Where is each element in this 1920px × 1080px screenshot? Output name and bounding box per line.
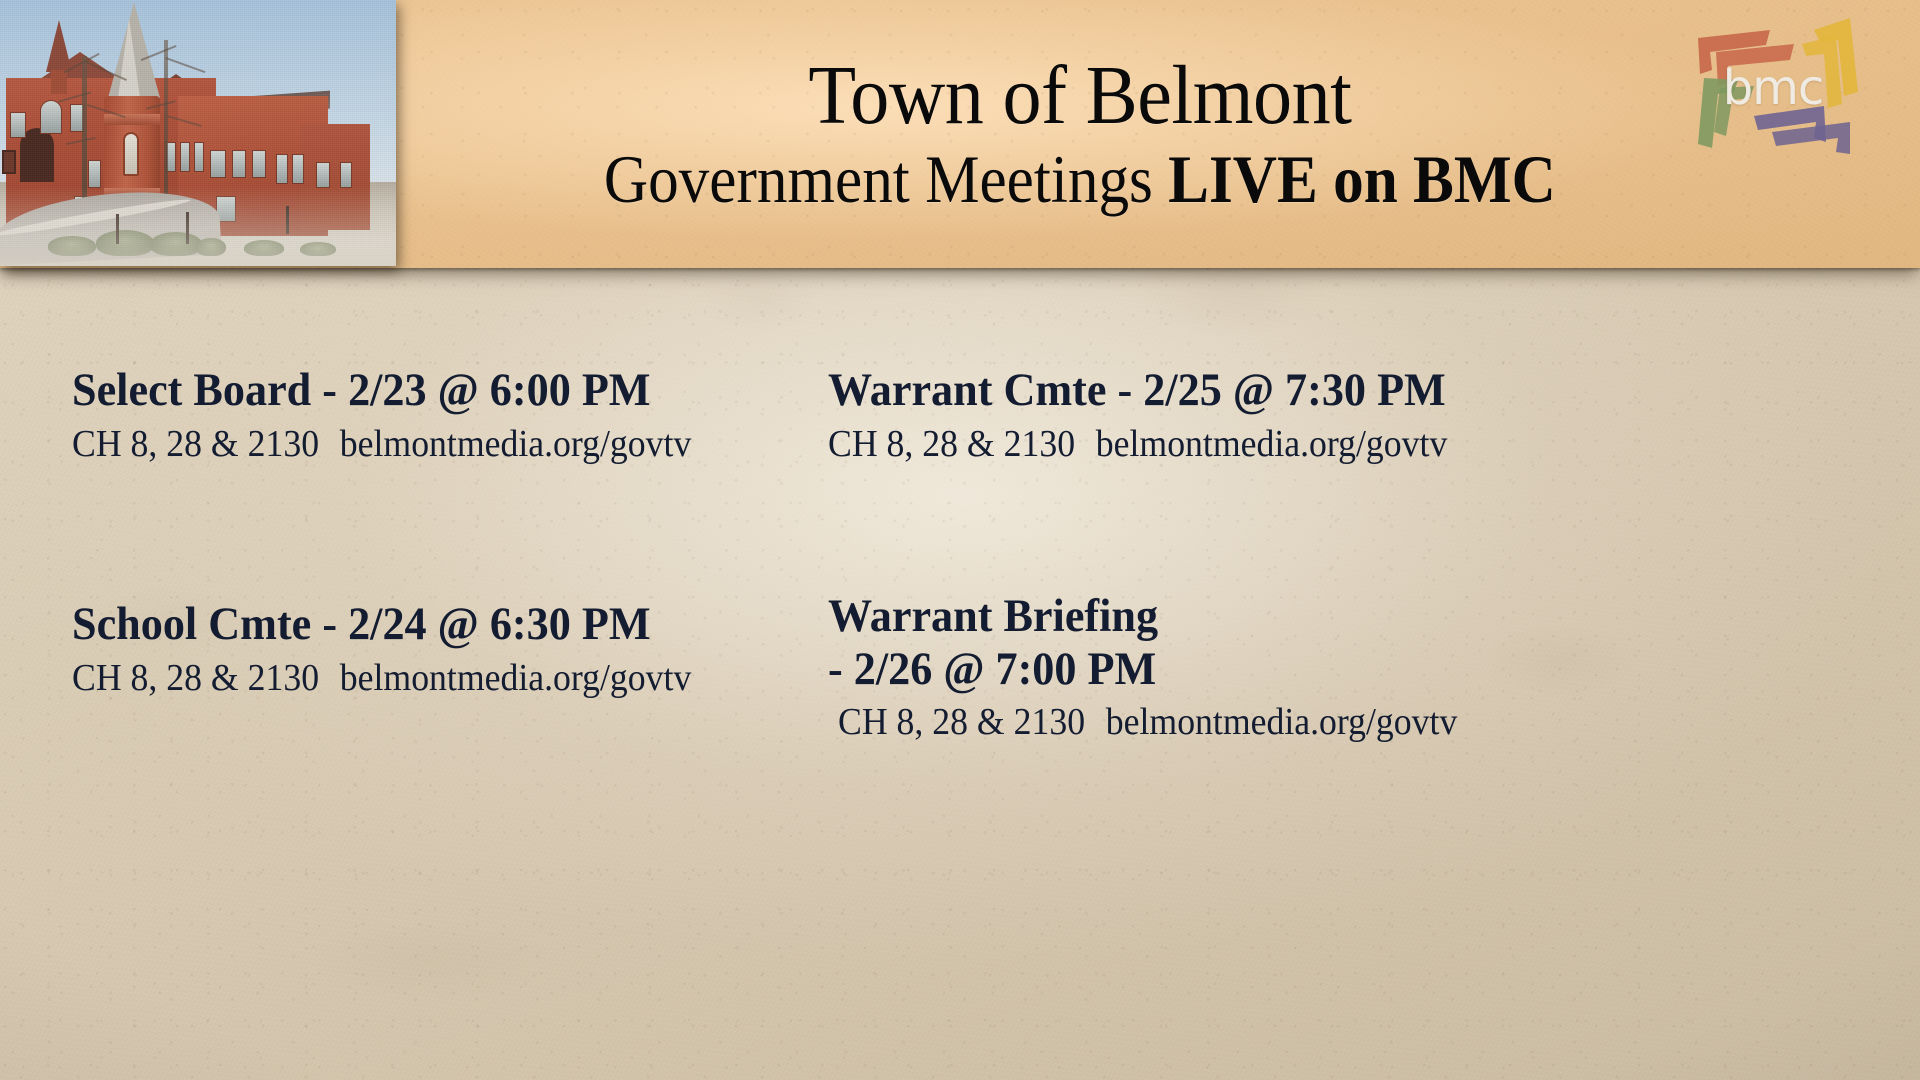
meeting-datetime: - bbox=[311, 364, 348, 416]
bmc-wordmark: bmc bbox=[1708, 60, 1838, 116]
photo-window bbox=[40, 100, 62, 134]
meeting-title: Warrant Cmte - 2/25 @ 7:30 PM bbox=[828, 364, 1447, 417]
meeting-details: CH 8, 28 & 2130belmontmedia.org/govtv bbox=[838, 699, 1457, 745]
meeting-datetime: - bbox=[1107, 364, 1144, 416]
meeting-title: Select Board - 2/23 @ 6:00 PM bbox=[72, 364, 691, 417]
photo-shrub bbox=[48, 236, 96, 256]
meeting-name: School Cmte bbox=[72, 598, 311, 650]
photo-shrub bbox=[96, 230, 154, 256]
photo-window bbox=[232, 150, 246, 178]
meeting-datetime-value: 2/24 @ 6:30 PM bbox=[348, 598, 650, 650]
photo-window bbox=[210, 150, 226, 178]
photo-turret-cone-highlight bbox=[118, 18, 140, 98]
photo-shrub bbox=[244, 240, 284, 256]
photo-canvas bbox=[0, 0, 396, 266]
meeting-details: CH 8, 28 & 2130belmontmedia.org/govtv bbox=[72, 421, 691, 467]
meeting-channels: CH 8, 28 & 2130 bbox=[72, 657, 319, 699]
photo-window bbox=[10, 112, 26, 138]
subtitle-regular-part: Government Meetings bbox=[604, 141, 1168, 217]
header-title-block: Town of Belmont Government Meetings LIVE… bbox=[400, 0, 1760, 268]
photo-turret-window bbox=[123, 132, 139, 176]
meeting-name: Warrant Briefing bbox=[828, 590, 1457, 643]
meeting-name: Select Board bbox=[72, 364, 311, 416]
town-hall-photo bbox=[0, 0, 396, 266]
photo-small-spire bbox=[46, 20, 72, 72]
meeting-url[interactable]: belmontmedia.org/govtv bbox=[1106, 701, 1458, 743]
page-title: Town of Belmont bbox=[808, 53, 1351, 139]
photo-window bbox=[180, 142, 190, 172]
photo-small-spire-base bbox=[51, 70, 67, 94]
meeting-channels: CH 8, 28 & 2130 bbox=[72, 423, 319, 465]
subtitle-bold-part: LIVE on BMC bbox=[1168, 141, 1556, 217]
page-subtitle: Government Meetings LIVE on BMC bbox=[604, 145, 1556, 214]
photo-window bbox=[340, 162, 352, 188]
photo-bollard bbox=[116, 214, 119, 244]
meeting-url[interactable]: belmontmedia.org/govtv bbox=[1096, 423, 1448, 465]
photo-shrub bbox=[196, 238, 226, 256]
meeting-channels: CH 8, 28 & 2130 bbox=[828, 423, 1075, 465]
meeting-details: CH 8, 28 & 2130belmontmedia.org/govtv bbox=[828, 421, 1447, 467]
meeting-channels: CH 8, 28 & 2130 bbox=[838, 701, 1085, 743]
photo-sign-board bbox=[2, 150, 16, 174]
meeting-datetime-value: 2/25 @ 7:30 PM bbox=[1143, 364, 1445, 416]
photo-brick-wall-far bbox=[300, 124, 370, 230]
photo-bollard bbox=[186, 212, 189, 244]
meeting-entry-warrant-cmte: Warrant Cmte - 2/25 @ 7:30 PM CH 8, 28 &… bbox=[828, 364, 1487, 467]
meeting-url[interactable]: belmontmedia.org/govtv bbox=[340, 423, 692, 465]
photo-window bbox=[276, 154, 288, 184]
meeting-entry-school-cmte: School Cmte - 2/24 @ 6:30 PM CH 8, 28 & … bbox=[72, 598, 731, 701]
meetings-list: Select Board - 2/23 @ 6:00 PM CH 8, 28 &… bbox=[0, 268, 1920, 1080]
meeting-details: CH 8, 28 & 2130belmontmedia.org/govtv bbox=[72, 655, 691, 701]
meeting-name: Warrant Cmte bbox=[828, 364, 1107, 416]
meeting-datetime-value: - 2/26 @ 7:00 PM bbox=[828, 643, 1457, 696]
photo-turret-band-upper bbox=[104, 114, 160, 125]
photo-bollard bbox=[286, 206, 289, 234]
meeting-url[interactable]: belmontmedia.org/govtv bbox=[340, 657, 692, 699]
meeting-datetime-value: 2/23 @ 6:00 PM bbox=[348, 364, 650, 416]
photo-window bbox=[292, 154, 304, 184]
bmc-logo: bmc bbox=[1672, 12, 1880, 160]
meeting-entry-select-board: Select Board - 2/23 @ 6:00 PM CH 8, 28 &… bbox=[72, 364, 731, 467]
meeting-datetime: - bbox=[311, 598, 348, 650]
photo-shrub bbox=[300, 242, 336, 256]
photo-window bbox=[88, 160, 101, 188]
meeting-entry-warrant-briefing: Warrant Briefing - 2/26 @ 7:00 PM CH 8, … bbox=[828, 590, 1497, 746]
slide-canvas: Town of Belmont Government Meetings LIVE… bbox=[0, 0, 1920, 1080]
photo-shrub bbox=[150, 232, 202, 256]
photo-window bbox=[252, 150, 266, 178]
photo-window bbox=[194, 142, 204, 172]
photo-window bbox=[316, 162, 330, 188]
meeting-title: School Cmte - 2/24 @ 6:30 PM bbox=[72, 598, 691, 651]
